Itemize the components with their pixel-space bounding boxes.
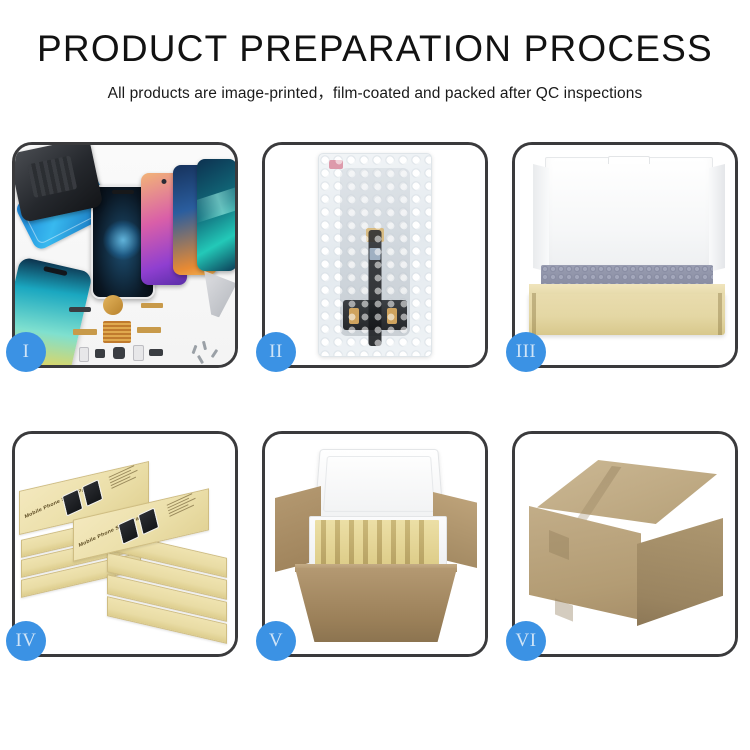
step-panel-1: I	[12, 142, 238, 368]
step-image-2	[265, 145, 485, 365]
bag-seal-sticker	[329, 160, 343, 169]
lcd-screen-image	[340, 168, 410, 336]
step-panel-5: V	[262, 431, 488, 657]
part-flex-cable-c	[137, 327, 161, 333]
box-text-lines-b	[167, 490, 202, 518]
part-sim-tray	[79, 347, 89, 362]
teal-wave-phone-image	[197, 159, 235, 271]
lcd-driver-chip	[370, 248, 381, 260]
step-badge-2: II	[256, 332, 296, 372]
part-flex-cable-a	[141, 303, 163, 308]
part-speaker-coil	[103, 295, 123, 315]
step-panel-4: Mobile Phone Spare Parts Mobile Phone Sp…	[12, 431, 238, 657]
screws-group	[191, 341, 225, 365]
box-screen-thumb-b2	[138, 507, 160, 535]
header: PRODUCT PREPARATION PROCESS All products…	[0, 0, 750, 103]
tweezers-image	[198, 271, 235, 319]
box-screen-thumb-a2	[82, 479, 104, 507]
step-panel-6: VI	[512, 431, 738, 657]
carton-front-face	[529, 506, 641, 620]
step-image-6	[515, 434, 735, 654]
kraft-box-base-image	[529, 293, 725, 335]
part-connector	[133, 345, 144, 361]
step-badge-6: VI	[506, 621, 546, 661]
carton-side-face	[637, 518, 723, 626]
step-image-4: Mobile Phone Spare Parts Mobile Phone Sp…	[15, 434, 235, 654]
step-panel-2: II	[262, 142, 488, 368]
step-badge-1: I	[6, 332, 46, 372]
step-image-5	[265, 434, 485, 654]
carton-top-face	[537, 460, 717, 524]
step-image-3	[515, 145, 735, 365]
foam-lid-image	[314, 449, 444, 520]
part-bracket-b	[149, 349, 163, 356]
box-white-lid-image	[545, 157, 713, 277]
carton-front-panel	[295, 568, 457, 642]
box-stack-group: Mobile Phone Spare Parts Mobile Phone Sp…	[17, 448, 235, 648]
step-badge-3: III	[506, 332, 546, 372]
step-badge-5: V	[256, 621, 296, 661]
page-title: PRODUCT PREPARATION PROCESS	[0, 30, 750, 67]
part-camera-module	[113, 347, 125, 359]
box-lid-notch	[608, 156, 650, 164]
part-flex-cable-b	[73, 329, 97, 335]
step-panel-3: III	[512, 142, 738, 368]
lcd-bottom-assembly	[343, 300, 407, 330]
part-chip-grid	[103, 321, 131, 343]
part-bracket	[69, 307, 91, 312]
step-badge-4: IV	[6, 621, 46, 661]
steps-grid: I II	[12, 142, 738, 657]
product-preparation-infographic: PRODUCT PREPARATION PROCESS All products…	[0, 0, 750, 750]
packed-yellow-boxes-image	[315, 520, 439, 570]
spare-parts-group	[69, 293, 179, 365]
sealed-carton-image	[529, 460, 725, 626]
part-button-a	[95, 349, 105, 358]
bubble-wrap-bag-image	[318, 153, 432, 357]
box-text-lines-a	[109, 463, 142, 490]
step-image-1	[15, 145, 235, 365]
page-subtitle: All products are image-printed，film-coat…	[0, 81, 750, 103]
